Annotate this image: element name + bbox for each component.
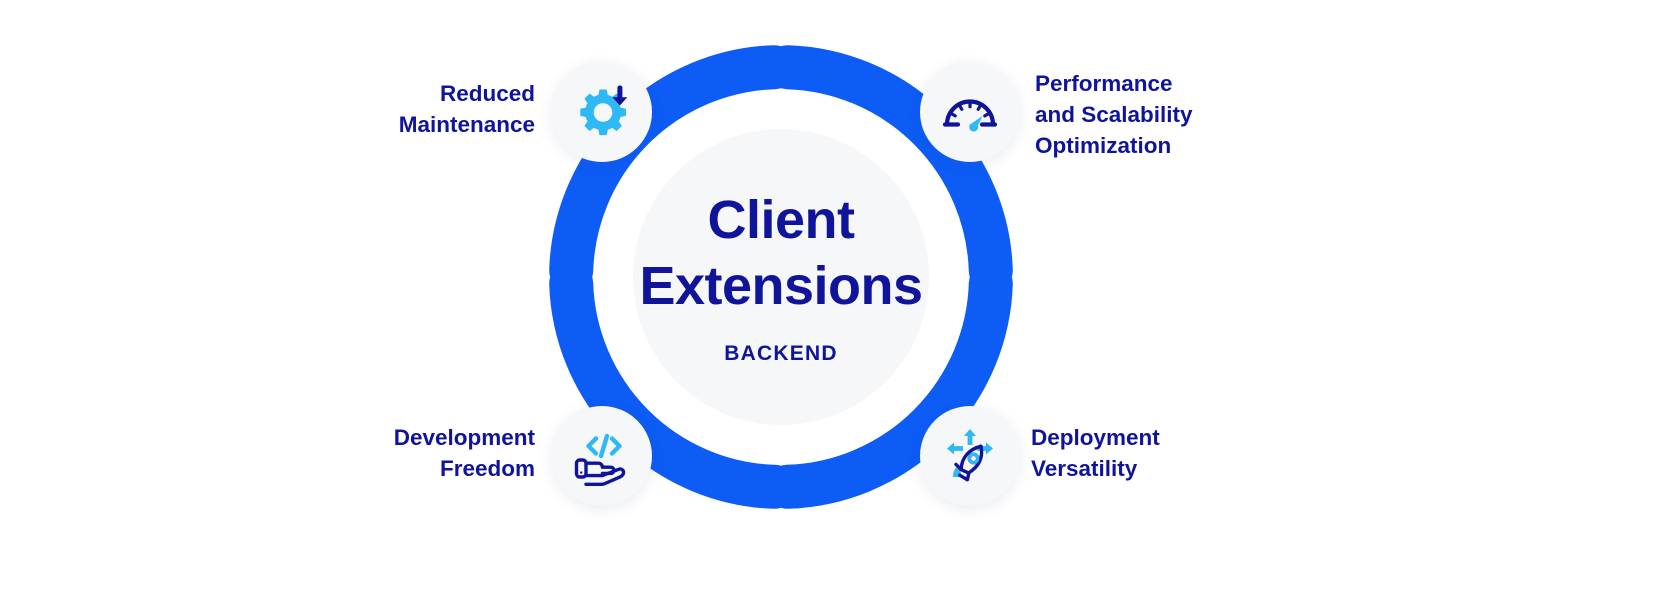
rocket-arrows-icon: [939, 425, 1001, 487]
node-icon-deployment-versatility[interactable]: [920, 406, 1020, 506]
code-in-hand-icon: [571, 425, 633, 487]
node-icon-performance-scalability[interactable]: [920, 62, 1020, 162]
center-title-line2: Extensions: [639, 254, 922, 320]
node-label-deployment-versatility: Deployment Versatility: [1031, 422, 1281, 484]
node-icon-development-freedom[interactable]: [552, 406, 652, 506]
node-icon-reduced-maintenance[interactable]: [552, 62, 652, 162]
diagram-canvas: Client Extensions BACKEND Reduced Mainte…: [0, 0, 1667, 605]
center-title-line1: Client: [707, 188, 854, 254]
center-hub: Client Extensions BACKEND: [633, 129, 929, 425]
speedometer-icon: [939, 81, 1001, 143]
node-label-reduced-maintenance: Reduced Maintenance: [320, 78, 535, 140]
center-subtitle: BACKEND: [724, 342, 837, 366]
gear-download-icon: [571, 81, 633, 143]
node-label-development-freedom: Development Freedom: [300, 422, 535, 484]
node-label-performance-scalability: Performance and Scalability Optimization: [1035, 68, 1295, 161]
